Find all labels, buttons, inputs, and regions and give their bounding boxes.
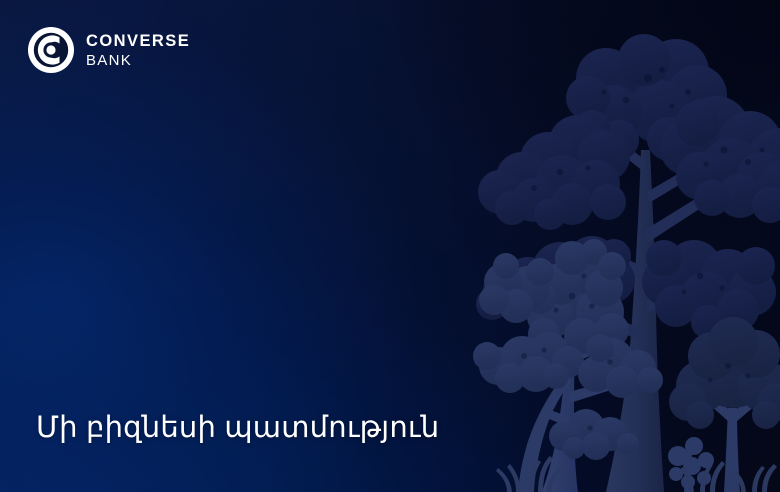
converse-bank-logo[interactable]: CONVERSE BANK [28,27,190,73]
logo-line-bank: BANK [86,52,190,70]
converse-bank-circular-c-mark [28,27,74,73]
logo-wordmark: CONVERSE BANK [86,31,190,70]
banner-canvas: CONVERSE BANK Մի բիզնեսի պատմություն [0,0,780,492]
logo-line-converse: CONVERSE [86,32,190,50]
banner-headline: Մի բիզնեսի պատմություն [36,410,439,445]
